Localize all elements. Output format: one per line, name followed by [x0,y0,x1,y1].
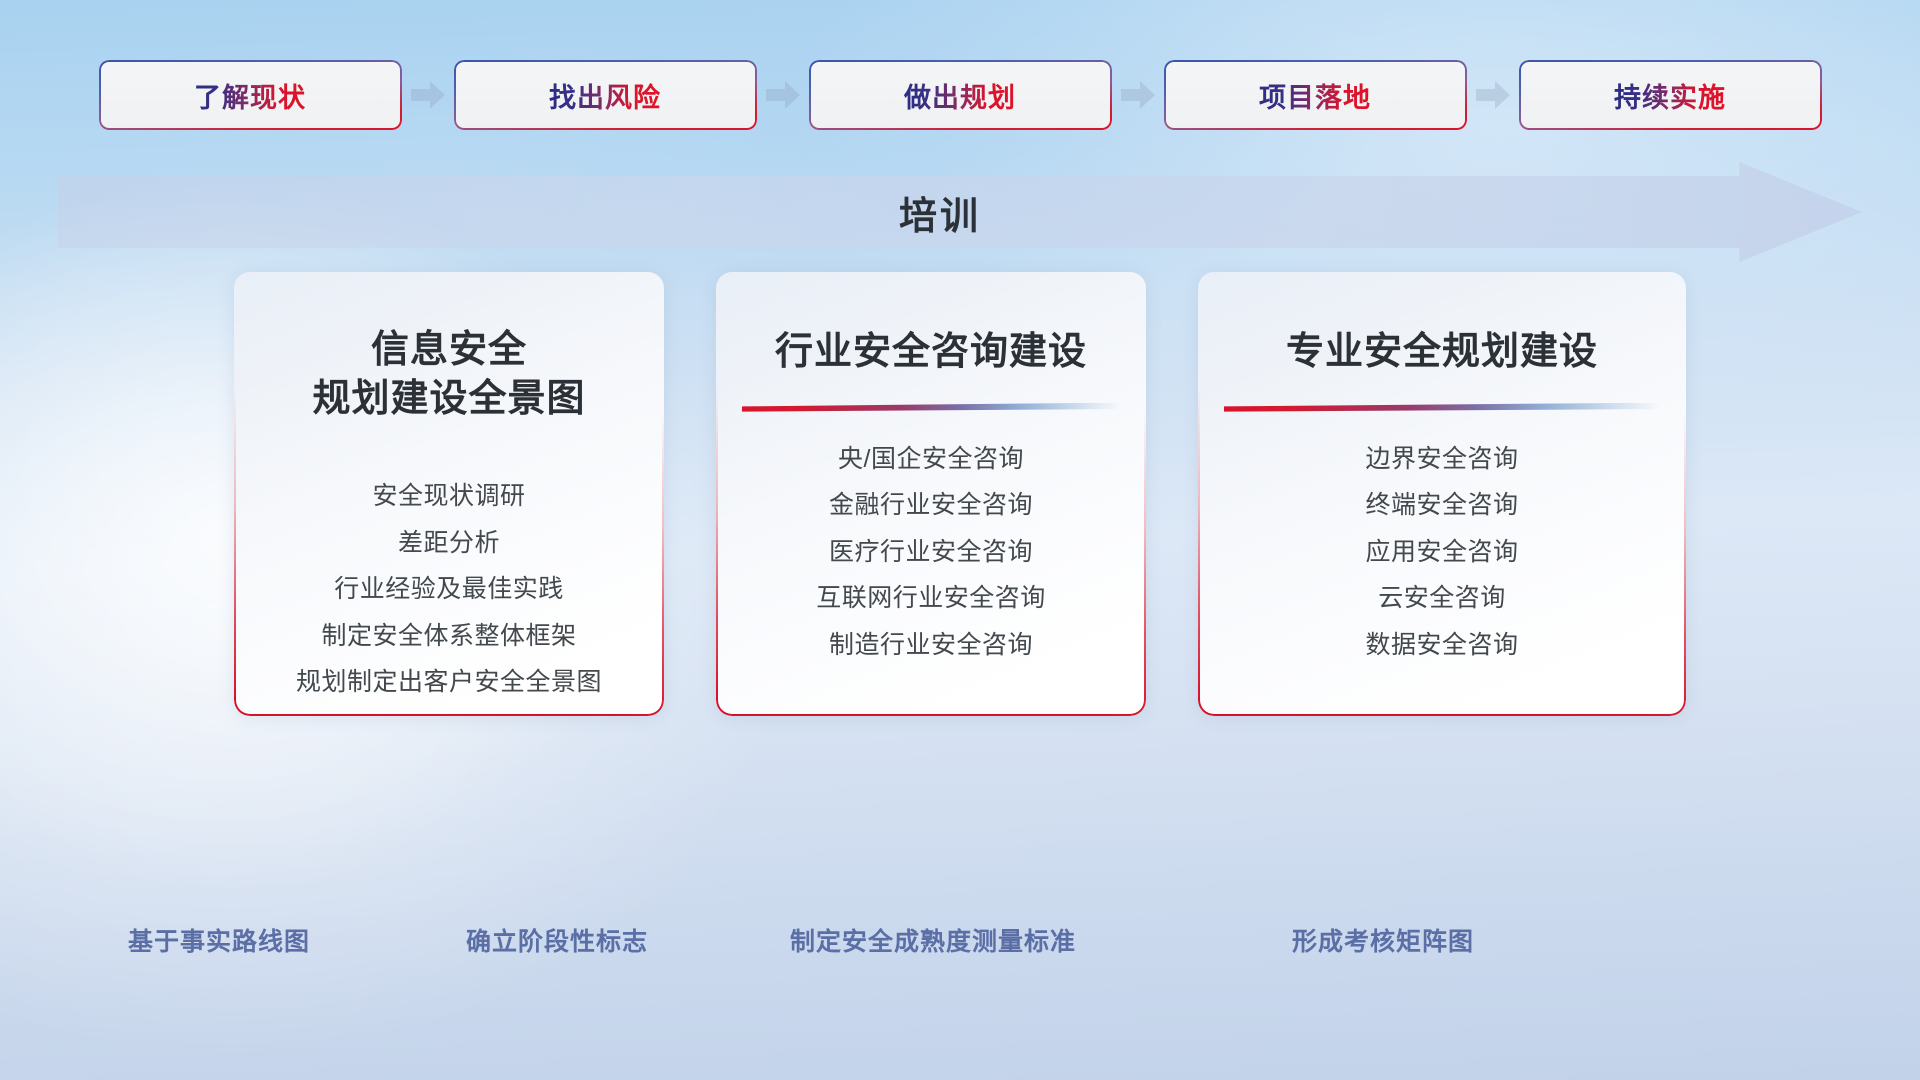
step-label-1: 了解现状 [194,76,306,115]
list-item: 应用安全咨询 [1365,533,1518,573]
list-item: 边界安全咨询 [1365,440,1518,480]
step-flow: 了解现状 找出风险 做出规划 项目落地 持续实施 [0,58,1920,132]
card-1-title: 信息安全 规划建设全景图 [312,326,585,423]
banner-title: 培训 [899,185,981,240]
card-3-list: 边界安全咨询 终端安全咨询 应用安全咨询 云安全咨询 数据安全咨询 [1365,440,1518,666]
card-2-title: 行业安全咨询建设 [775,328,1087,377]
step-label-2: 找出风险 [549,76,661,115]
training-banner: 培训 [58,162,1862,262]
arrow-right-icon [757,77,809,113]
list-item: 数据安全咨询 [1365,626,1518,666]
card-1[interactable]: 信息安全 规划建设全景图 安全现状调研 差距分析 行业经验及最佳实践 制定安全体… [234,272,664,716]
caption-3: 制定安全成熟度测量标准 [790,922,1076,958]
card-row: 信息安全 规划建设全景图 安全现状调研 差距分析 行业经验及最佳实践 制定安全体… [0,272,1920,716]
step-box-1[interactable]: 了解现状 [99,60,402,130]
card-3[interactable]: 专业安全规划建设 边界安全咨询 终端安全咨询 应用安全咨询 云安全咨询 数据安全… [1198,272,1686,716]
step-box-3[interactable]: 做出规划 [809,60,1112,130]
list-item: 终端安全咨询 [1365,486,1518,526]
list-item: 差距分析 [398,524,500,564]
card-1-title-line-1: 信息安全 [312,326,585,375]
list-item: 行业经验及最佳实践 [334,570,564,610]
list-item: 安全现状调研 [372,477,525,517]
caption-2: 确立阶段性标志 [466,922,648,958]
list-item: 规划制定出客户安全全景图 [296,663,602,703]
arrow-right-icon [1112,77,1164,113]
card-2[interactable]: 行业安全咨询建设 央/国企安全咨询 金融行业安全咨询 医疗行业安全咨询 互联网行… [716,272,1146,716]
card-3-title: 专业安全规划建设 [1286,328,1598,377]
list-item: 金融行业安全咨询 [829,486,1033,526]
step-label-3: 做出规划 [904,76,1016,115]
caption-4: 形成考核矩阵图 [1292,922,1474,958]
caption-1: 基于事实路线图 [128,922,310,958]
list-item: 制造行业安全咨询 [829,626,1033,666]
step-label-5: 持续实施 [1614,76,1726,115]
step-box-5[interactable]: 持续实施 [1519,60,1822,130]
card-2-list: 央/国企安全咨询 金融行业安全咨询 医疗行业安全咨询 互联网行业安全咨询 制造行… [816,440,1046,666]
caption-row: 基于事实路线图 确立阶段性标志 制定安全成熟度测量标准 形成考核矩阵图 [0,922,1920,966]
list-item: 央/国企安全咨询 [838,440,1024,480]
step-box-4[interactable]: 项目落地 [1164,60,1467,130]
list-item: 互联网行业安全咨询 [816,579,1046,619]
card-3-title-line-1: 专业安全规划建设 [1286,328,1598,377]
card-1-title-line-2: 规划建设全景图 [312,375,585,424]
card-3-divider [1224,403,1660,412]
card-2-title-line-1: 行业安全咨询建设 [775,328,1087,377]
arrow-right-icon [402,77,454,113]
list-item: 云安全咨询 [1378,579,1506,619]
list-item: 医疗行业安全咨询 [829,533,1033,573]
step-box-2[interactable]: 找出风险 [454,60,757,130]
card-1-list: 安全现状调研 差距分析 行业经验及最佳实践 制定安全体系整体框架 规划制定出客户… [296,477,602,703]
step-label-4: 项目落地 [1259,76,1371,115]
arrow-right-icon [1467,77,1519,113]
list-item: 制定安全体系整体框架 [321,617,576,657]
card-2-divider [742,403,1120,412]
